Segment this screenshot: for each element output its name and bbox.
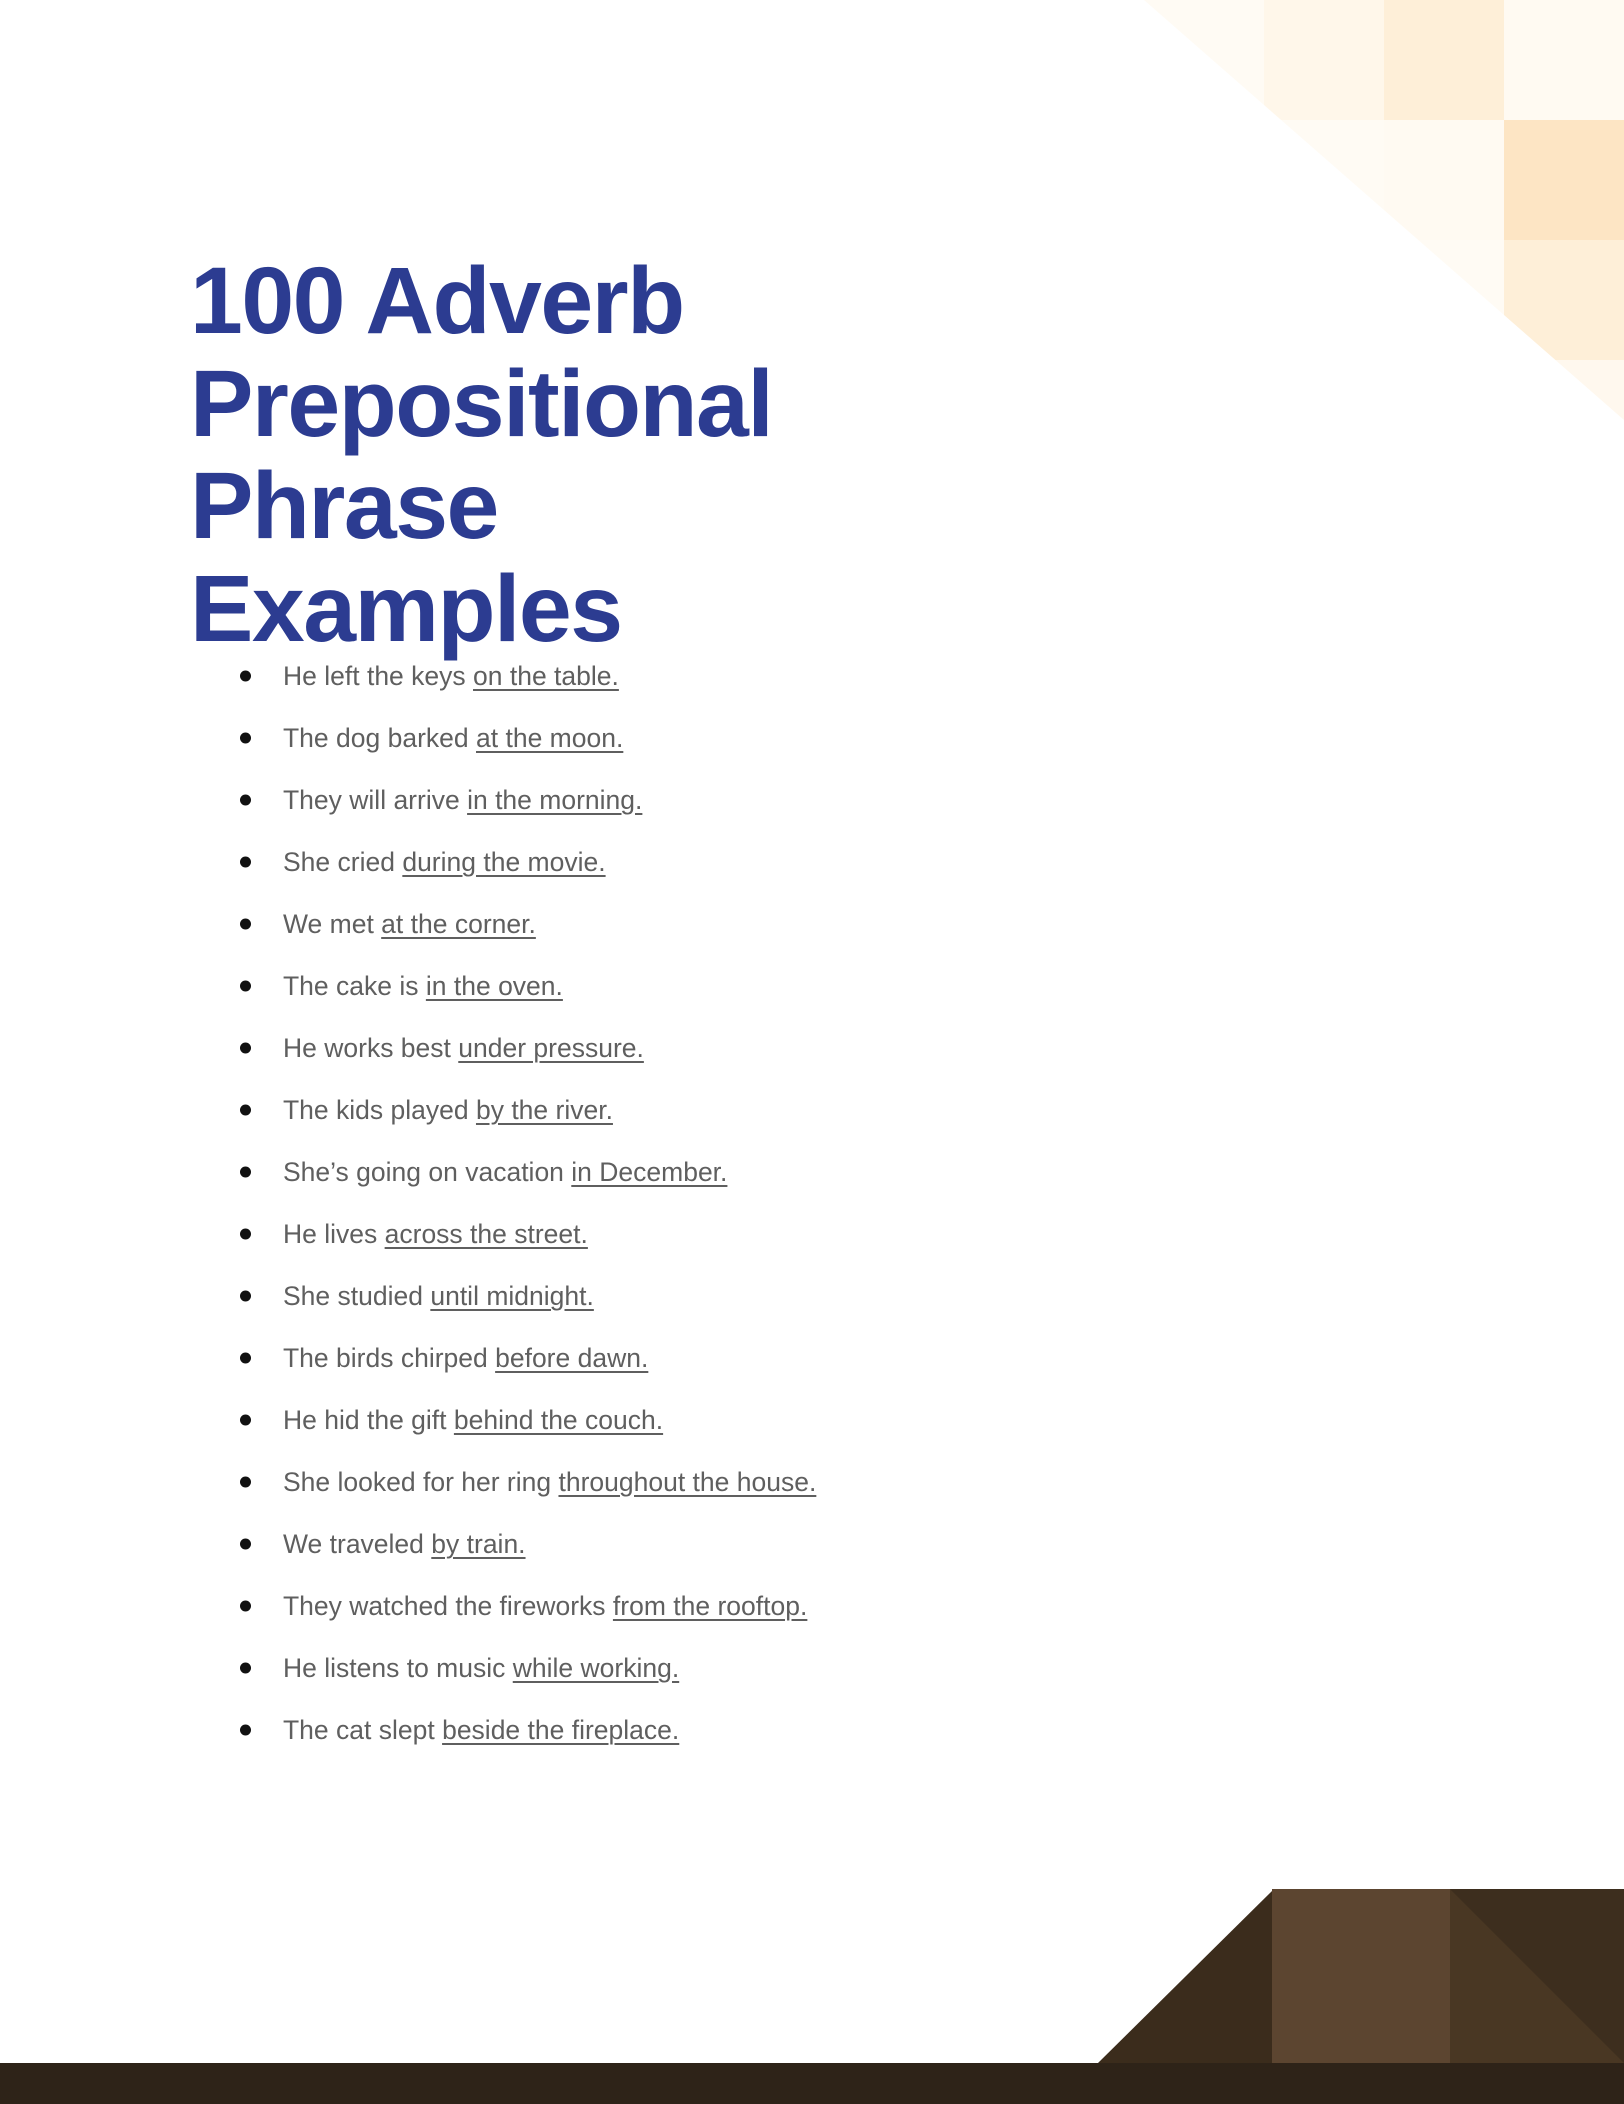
document-page: 100 Adverb Prepositional Phrase Examples…: [0, 0, 1624, 2104]
checkerboard-cell-6: [1384, 120, 1504, 240]
checkerboard-cell-11: [1504, 240, 1624, 360]
prepositional-phrase-text: during the movie.: [402, 847, 605, 877]
checkerboard-cell-2: [1384, 0, 1504, 120]
example-sentence-text: He hid the gift: [283, 1405, 454, 1435]
bullet-icon: [240, 857, 251, 868]
example-sentence-text: The cake is: [283, 971, 426, 1001]
list-item: He hid the gift behind the couch.: [236, 1389, 1436, 1451]
brown-dark-block: [1450, 1889, 1624, 2063]
example-sentence-text: The kids played: [283, 1095, 476, 1125]
prepositional-phrase-text: in the morning.: [467, 785, 642, 815]
prepositional-phrase-text: at the moon.: [476, 723, 623, 753]
list-item: The kids played by the river.: [236, 1079, 1436, 1141]
prepositional-phrase-text: on the table.: [473, 661, 619, 691]
checkerboard-cell-4: [1144, 120, 1264, 240]
example-sentence-text: He listens to music: [283, 1653, 513, 1683]
top-right-checkerboard-decoration: [1144, 0, 1624, 420]
list-item: They watched the fireworks from the roof…: [236, 1575, 1436, 1637]
list-item: The cake is in the oven.: [236, 955, 1436, 1017]
prepositional-phrase-text: at the corner.: [381, 909, 536, 939]
list-item: She’s going on vacation in December.: [236, 1141, 1436, 1203]
bullet-icon: [240, 795, 251, 806]
brown-footer-bar: [0, 2063, 1624, 2104]
example-sentence-text: He lives: [283, 1219, 385, 1249]
list-item: The birds chirped before dawn.: [236, 1327, 1436, 1389]
bullet-icon: [240, 671, 251, 682]
bullet-icon: [240, 1539, 251, 1550]
brown-dark-wedge: [1450, 1889, 1624, 2063]
bottom-right-brown-decoration: [0, 1874, 1624, 2104]
prepositional-phrase-text: beside the fireplace.: [442, 1715, 679, 1745]
bullet-icon: [240, 1725, 251, 1736]
prepositional-phrase-text: by train.: [431, 1529, 525, 1559]
example-list: He left the keys on the table.The dog ba…: [236, 645, 1436, 1761]
checkerboard-cell-1: [1264, 0, 1384, 120]
bullet-icon: [240, 1477, 251, 1488]
page-title-line-2: Prepositional Phrase: [190, 353, 1090, 558]
bullet-icon: [240, 733, 251, 744]
list-item: We traveled by train.: [236, 1513, 1436, 1575]
bullet-icon: [240, 1105, 251, 1116]
prepositional-phrase-text: by the river.: [476, 1095, 613, 1125]
bullet-icon: [240, 981, 251, 992]
example-sentence-text: He left the keys: [283, 661, 473, 691]
checkerboard-cell-13: [1504, 360, 1624, 420]
example-sentence-text: They will arrive: [283, 785, 467, 815]
bullet-icon: [240, 1291, 251, 1302]
bullet-icon: [240, 1043, 251, 1054]
prepositional-phrase-text: behind the couch.: [454, 1405, 663, 1435]
example-sentence-text: She looked for her ring: [283, 1467, 558, 1497]
checkerboard-cell-3: [1504, 0, 1624, 120]
bullet-icon: [240, 919, 251, 930]
example-sentence-text: She studied: [283, 1281, 430, 1311]
brown-ramp-shape: [1098, 1889, 1274, 2063]
list-item: She studied until midnight.: [236, 1265, 1436, 1327]
example-sentence-text: The dog barked: [283, 723, 476, 753]
bullet-icon: [240, 1229, 251, 1240]
checkerboard-cell-12: [1384, 360, 1504, 420]
prepositional-phrase-text: under pressure.: [458, 1033, 644, 1063]
example-sentence-text: The cat slept: [283, 1715, 442, 1745]
example-sentence-text: We met: [283, 909, 381, 939]
prepositional-phrase-text: from the rooftop.: [613, 1591, 807, 1621]
list-item: We met at the corner.: [236, 893, 1436, 955]
list-item: He listens to music while working.: [236, 1637, 1436, 1699]
checkerboard-cell-10: [1384, 240, 1504, 360]
checkerboard-cell-0: [1144, 0, 1264, 120]
prepositional-phrase-text: in December.: [571, 1157, 727, 1187]
bullet-icon: [240, 1601, 251, 1612]
list-item: He left the keys on the table.: [236, 645, 1436, 707]
example-sentence-text: The birds chirped: [283, 1343, 495, 1373]
prepositional-phrase-text: until midnight.: [430, 1281, 594, 1311]
checkerboard-cell-9: [1264, 240, 1384, 360]
bullet-icon: [240, 1415, 251, 1426]
example-sentence-text: She cried: [283, 847, 402, 877]
page-title: 100 Adverb Prepositional Phrase Examples: [190, 250, 1090, 660]
example-sentence-text: She’s going on vacation: [283, 1157, 571, 1187]
list-item: He lives across the street.: [236, 1203, 1436, 1265]
brown-light-block: [1272, 1889, 1450, 2063]
list-item: The dog barked at the moon.: [236, 707, 1436, 769]
checkerboard-cell-5: [1264, 120, 1384, 240]
prepositional-phrase-text: before dawn.: [495, 1343, 648, 1373]
bullet-icon: [240, 1167, 251, 1178]
page-title-line-1: 100 Adverb: [190, 250, 1090, 353]
checkerboard-cell-7: [1504, 120, 1624, 240]
prepositional-phrase-text: while working.: [513, 1653, 679, 1683]
prepositional-phrase-text: in the oven.: [426, 971, 563, 1001]
list-item: The cat slept beside the fireplace.: [236, 1699, 1436, 1761]
bullet-icon: [240, 1353, 251, 1364]
checkerboard-cell-8: [1144, 240, 1264, 360]
prepositional-phrase-text: throughout the house.: [558, 1467, 816, 1497]
example-sentence-text: They watched the fireworks: [283, 1591, 613, 1621]
prepositional-phrase-text: across the street.: [385, 1219, 588, 1249]
bullet-icon: [240, 1663, 251, 1674]
list-item: He works best under pressure.: [236, 1017, 1436, 1079]
list-item: She looked for her ring throughout the h…: [236, 1451, 1436, 1513]
example-sentence-text: We traveled: [283, 1529, 431, 1559]
list-item: They will arrive in the morning.: [236, 769, 1436, 831]
list-item: She cried during the movie.: [236, 831, 1436, 893]
example-sentence-text: He works best: [283, 1033, 458, 1063]
